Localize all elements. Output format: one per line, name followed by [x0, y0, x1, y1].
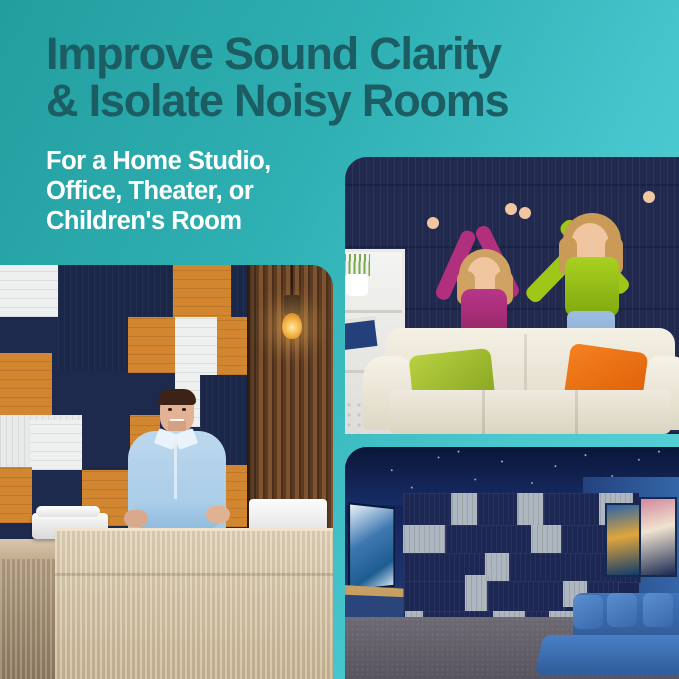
panel-tile	[543, 493, 601, 527]
pendant-cap	[284, 295, 300, 315]
panel-tile	[517, 493, 545, 527]
acoustic-panel-wall	[0, 265, 333, 679]
sofa-seat	[535, 635, 679, 675]
hand-left	[124, 510, 148, 527]
pendant-bulb-light-icon	[282, 313, 302, 339]
wood-slat-wall	[247, 265, 333, 537]
movie-poster-right	[639, 497, 677, 577]
eye-left	[168, 408, 172, 411]
movie-poster-left	[605, 503, 641, 577]
panel-tile	[531, 525, 563, 555]
pendant-cord	[291, 265, 293, 297]
page-title: Improve Sound Clarity & Isolate Noisy Ro…	[46, 30, 666, 124]
photo-home-theater	[345, 447, 679, 679]
lime-top	[565, 257, 619, 317]
panel-tile	[30, 420, 82, 470]
eye-right	[182, 408, 186, 411]
panel-tile	[561, 525, 609, 555]
panel-tile	[403, 581, 467, 613]
cushion-right	[643, 593, 673, 627]
panel-tile	[403, 493, 453, 527]
headline-line-1: Improve Sound Clarity	[46, 28, 501, 79]
photo-office-reception	[0, 265, 333, 679]
blue-sofa	[539, 587, 679, 675]
subtitle: For a Home Studio, Office, Theater, or C…	[46, 146, 666, 236]
fringe	[158, 389, 196, 405]
headline-line-2: & Isolate Noisy Rooms	[46, 77, 666, 124]
theater-room	[345, 447, 679, 679]
subtitle-line-2: Office, Theater, or	[46, 176, 666, 206]
plant-leaves	[345, 254, 370, 276]
headline-block: Improve Sound Clarity & Isolate Noisy Ro…	[46, 30, 666, 236]
sofa-seat	[389, 390, 671, 434]
panel-tile	[0, 467, 32, 523]
cream-sofa	[363, 310, 679, 434]
panel-tile	[403, 525, 447, 555]
panel-tile	[451, 493, 479, 527]
hand-right	[206, 506, 230, 523]
counter-front-panel	[55, 528, 333, 679]
panel-tile	[445, 525, 533, 555]
promo-poster: Improve Sound Clarity & Isolate Noisy Ro…	[0, 0, 679, 679]
panel-tile	[0, 265, 58, 317]
subtitle-line-1: For a Home Studio,	[46, 146, 666, 176]
potted-plant	[346, 274, 368, 296]
cushion-left	[573, 595, 603, 629]
receptionist	[118, 361, 236, 551]
cushion-mid	[607, 593, 637, 627]
panel-tile	[477, 493, 519, 527]
subtitle-line-3: Children's Room	[46, 206, 666, 236]
television	[348, 502, 395, 592]
